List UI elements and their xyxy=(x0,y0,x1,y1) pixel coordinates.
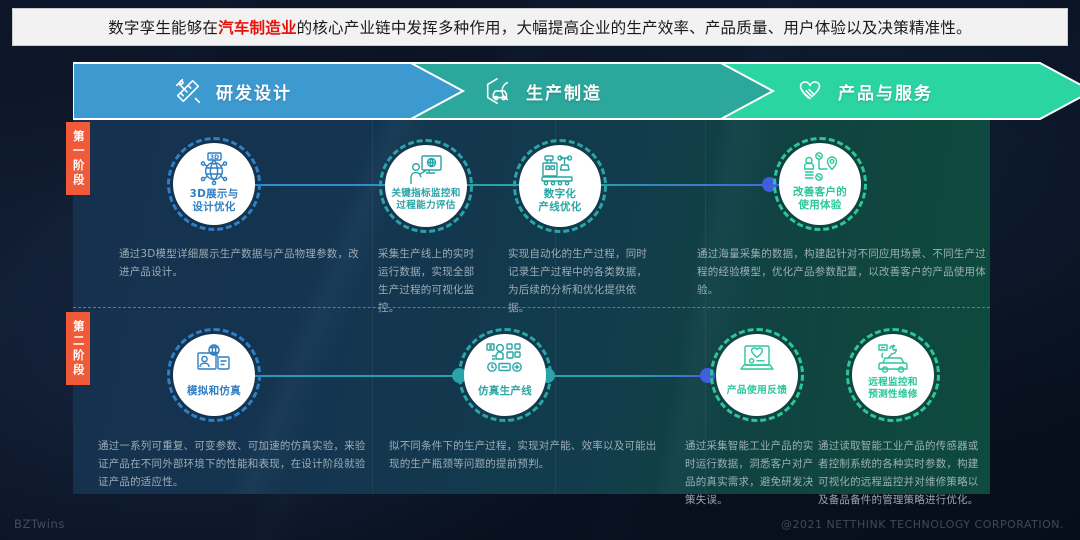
circle-disc: 模拟和仿真 xyxy=(173,334,255,416)
phase-divider xyxy=(73,307,990,308)
card-circle-simulation[interactable]: 模拟和仿真 xyxy=(167,328,261,422)
card-circle-kpi-monitor[interactable]: 关键指标监控和 过程能力评估 xyxy=(379,139,473,233)
stage-arrow-bar: 研发设计 生产制造 xyxy=(73,62,1020,120)
footer-copyright: @2021 NETTHINK TECHNOLOGY CORPORATION. xyxy=(781,518,1064,531)
card-circle-feedback[interactable]: 产品使用反馈 xyxy=(710,328,804,422)
circle-disc: 数字化 产线优化 xyxy=(519,145,601,227)
circle-disc: 产品使用反馈 xyxy=(716,334,798,416)
circle-label-line2: 产线优化 xyxy=(538,201,581,214)
headline-suffix: 的核心产业链中发挥多种作用，大幅提高企业的生产效率、产品质量、用户体验以及决策精… xyxy=(297,19,972,37)
circle-label-line1: 3D展示与 xyxy=(189,188,238,201)
phase-tag-2: 第二阶段 xyxy=(66,312,90,385)
circle-label: 产品使用反馈 xyxy=(727,377,788,397)
circle-label: 数字化 产线优化 xyxy=(538,188,581,214)
car-wrench-icon xyxy=(874,343,912,375)
phase-tag-1: 第一阶段 xyxy=(66,122,90,195)
phase-tag-label: 第二阶段 xyxy=(72,320,84,378)
slide-canvas: 数字孪生能够在汽车制造业的核心产业链中发挥多种作用，大幅提高企业的生产效率、产品… xyxy=(0,0,1080,540)
feedback-laptop-icon xyxy=(739,343,775,375)
column-divider-1 xyxy=(372,62,373,494)
circle-label-line1: 关键指标监控和 xyxy=(391,188,460,200)
circle-label-line2: 过程能力评估 xyxy=(391,200,460,212)
factory-line-icon xyxy=(541,154,579,186)
footer-brand: BZTwins xyxy=(14,517,65,531)
circle-label: 3D展示与 设计优化 xyxy=(189,188,238,214)
circle-label-line1: 数字化 xyxy=(538,188,581,201)
headline-text: 数字孪生能够在汽车制造业的核心产业链中发挥多种作用，大幅提高企业的生产效率、产品… xyxy=(108,16,972,38)
circle-disc: 3D 3D展示与 设计优化 xyxy=(173,143,255,225)
circle-label: 改善客户的 使用体验 xyxy=(793,186,847,212)
circle-label-line1: 模拟和仿真 xyxy=(187,385,241,398)
circle-label-line2: 使用体验 xyxy=(793,199,847,212)
circle-label-line1: 仿真生产线 xyxy=(478,385,532,398)
card-desc-simulation: 通过一系列可重复、可变参数、可加速的仿真实验，来验证产品在不同外部环境下的性能和… xyxy=(98,437,368,491)
headline-banner: 数字孪生能够在汽车制造业的核心产业链中发挥多种作用，大幅提高企业的生产效率、产品… xyxy=(12,8,1068,46)
svg-text:3D: 3D xyxy=(210,154,219,161)
card-circle-customer-exp[interactable]: 改善客户的 使用体验 xyxy=(773,137,867,231)
circle-disc: 改善客户的 使用体验 xyxy=(779,143,861,225)
headline-highlight: 汽车制造业 xyxy=(218,19,297,37)
card-desc-3d-display: 通过3D模型详细展示生产数据与产品物理参数，改进产品设计。 xyxy=(119,245,365,281)
circle-label-line1: 改善客户的 xyxy=(793,186,847,199)
headline-prefix: 数字孪生能够在 xyxy=(108,19,218,37)
card-circle-remote-maint[interactable]: 远程监控和 预测性维修 xyxy=(846,328,940,422)
circle-disc: 远程监控和 预测性维修 xyxy=(852,334,934,416)
stage-arrow-service[interactable]: 产品与服务 xyxy=(721,62,1080,120)
monitor-person-icon xyxy=(409,154,443,186)
ruler-pencil-icon xyxy=(173,76,203,106)
stage-arrow-title: 产品与服务 xyxy=(838,79,933,104)
circle-label-line2: 预测性维修 xyxy=(868,389,917,401)
card-circle-sim-line[interactable]: 仿真生产线 xyxy=(458,328,552,422)
stage-arrow-title: 生产制造 xyxy=(526,79,602,104)
card-circle-3d-display[interactable]: 3D 3D展示与 设计优化 xyxy=(167,137,261,231)
circle-label: 远程监控和 预测性维修 xyxy=(868,377,917,400)
stage-arrow-title: 研发设计 xyxy=(216,79,292,104)
simulation-icon xyxy=(196,343,232,375)
circle-label-line1: 远程监控和 xyxy=(868,377,917,389)
phase-tag-label: 第一阶段 xyxy=(72,130,84,188)
card-desc-sim-line: 拟不同条件下的生产过程，实现对产能、效率以及可能出现的生产瓶颈等问题的提前预判。 xyxy=(389,437,667,473)
circle-disc: 仿真生产线 xyxy=(464,334,546,416)
circle-label: 仿真生产线 xyxy=(478,377,532,398)
card-desc-customer-exp: 通过海量采集的数据，构建起针对不同应用场景、不同生产过程的经验模型，优化产品参数… xyxy=(697,245,987,299)
card-desc-remote-maint: 通过读取智能工业产品的传感器或者控制系统的各种实时参数，构建可视化的远程监控并对… xyxy=(818,437,986,509)
circle-label: 关键指标监控和 过程能力评估 xyxy=(391,188,460,211)
car-manufacture-icon xyxy=(483,76,513,106)
circle-label-line2: 设计优化 xyxy=(189,201,238,214)
sim-production-icon xyxy=(486,343,524,375)
circle-label-line1: 产品使用反馈 xyxy=(727,385,788,397)
card-circle-digital-line[interactable]: 数字化 产线优化 xyxy=(513,139,607,233)
card-desc-feedback: 通过采集智能工业产品的实时运行数据，洞悉客户对产品的真实需求，避免研发决策失误。 xyxy=(685,437,815,509)
circle-label: 模拟和仿真 xyxy=(187,377,241,398)
handshake-heart-icon xyxy=(795,76,825,106)
customer-journey-icon xyxy=(802,152,838,184)
circle-disc: 关键指标监控和 过程能力评估 xyxy=(385,145,467,227)
3d-globe-icon: 3D xyxy=(196,152,232,186)
